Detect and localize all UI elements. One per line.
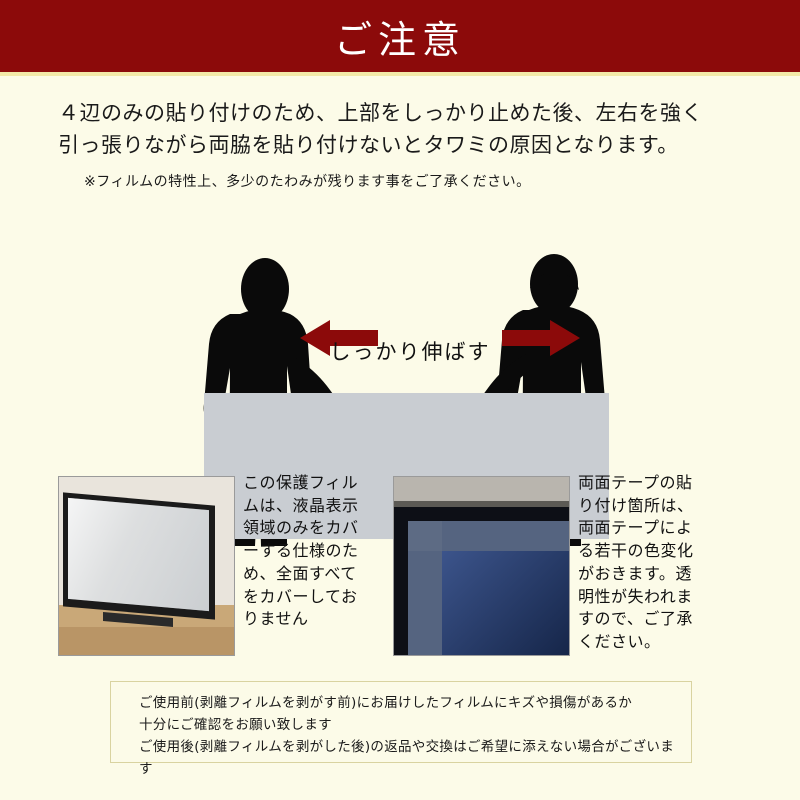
footer-line-3: ご使用後(剥離フィルムを剥がした後)の返品や交換はご希望に添えない場合がございま…: [139, 737, 679, 781]
footer-line-2: 十分にご確認をお願い致します: [139, 715, 679, 737]
footer-note-box: ご使用前(剥離フィルムを剥がす前)にお届けしたフィルムにキズや損傷があるか 十分…: [110, 681, 692, 763]
photo-row: この保護フィルムは、液晶表示領域のみをカバーする仕様のため、全面すべてをカバーし…: [58, 476, 748, 666]
photo2-sheen: [442, 551, 569, 655]
footer-note-text: ご使用前(剥離フィルムを剥がす前)にお届けしたフィルムにキズや損傷があるか 十分…: [139, 693, 679, 780]
photo2-top-shadow: [394, 501, 569, 507]
photo-tv-with-film: [58, 476, 235, 656]
photo-right-caption: 両面テープの貼り付け箇所は、両面テープによる若干の色変化がおきます。透明性が失わ…: [578, 472, 703, 654]
notice-page: ご注意 ４辺のみの貼り付けのため、上部をしっかり止めた後、左右を強く 引っ張りな…: [0, 0, 800, 800]
content-area: ４辺のみの貼り付けのため、上部をしっかり止めた後、左右を強く 引っ張りながら両脇…: [0, 76, 800, 800]
footer-line-1: ご使用前(剥離フィルムを剥がす前)にお届けしたフィルムにキズや損傷があるか: [139, 693, 679, 715]
photo2-tape-vertical: [408, 521, 442, 655]
photo-left-caption: この保護フィルムは、液晶表示領域のみをカバーする仕様のため、全面すべてをカバーし…: [243, 472, 368, 631]
lead-line-1: ４辺のみの貼り付けのため、上部をしっかり止めた後、左右を強く: [58, 98, 748, 130]
lead-paragraph: ４辺のみの貼り付けのため、上部をしっかり止めた後、左右を強く 引っ張りながら両脇…: [58, 98, 748, 161]
lead-line-2: 引っ張りながら両脇を貼り付けないとタワミの原因となります。: [58, 130, 748, 162]
page-title: ご注意: [334, 9, 466, 64]
photo1-floor-shadow: [59, 627, 234, 655]
film-characteristic-note: ※フィルムの特性上、多少のたわみが残ります事をご了承ください。: [84, 171, 744, 191]
photo-tape-corner: [393, 476, 570, 656]
photo1-screen-reflection: [68, 498, 209, 611]
arrow-label: しっかり伸ばす: [290, 336, 530, 366]
page-header: ご注意: [0, 0, 800, 72]
